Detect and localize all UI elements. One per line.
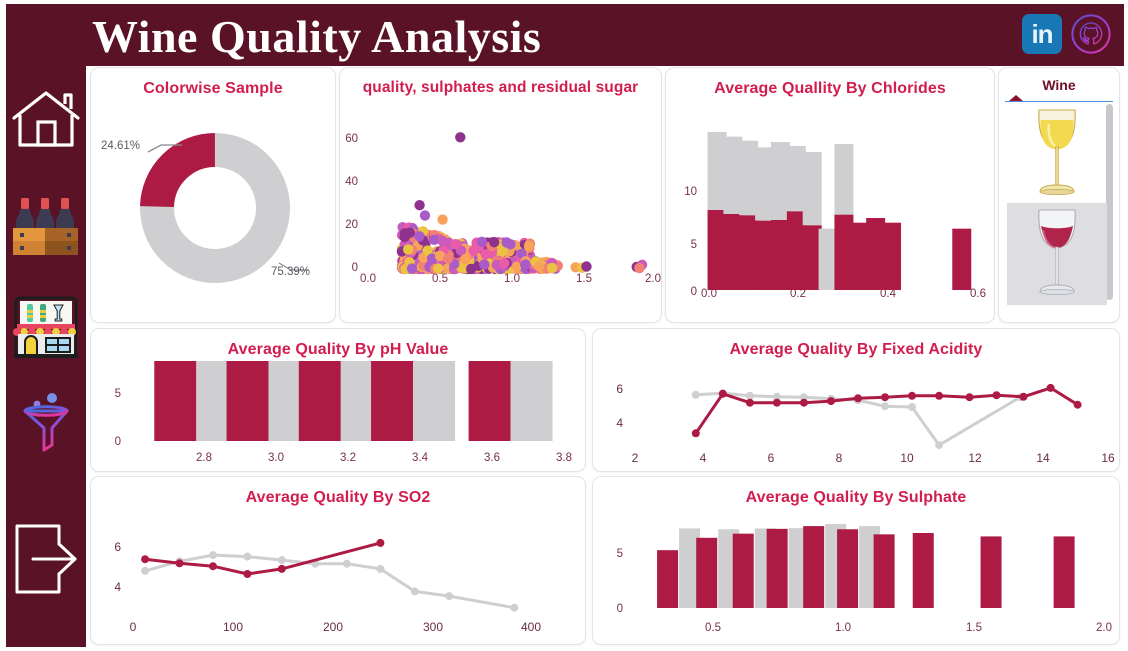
dashboard-canvas: Colorwise Sample 24.61% 75.39% quality, …	[88, 66, 1124, 647]
point-white	[445, 592, 453, 600]
point-red	[278, 564, 286, 572]
chlorides-plot: 10 5 0 0.0 0.2 0.4 0.6	[666, 100, 994, 300]
sul-ytick-5: 5	[617, 548, 623, 560]
acid-xtick-1: 4	[700, 451, 707, 465]
donut-label-red: 24.61%	[101, 140, 140, 152]
github-icon[interactable]	[1070, 13, 1112, 55]
bar-red	[371, 361, 413, 441]
bar-red	[952, 228, 971, 289]
sul-xtick-2: 1.5	[966, 622, 982, 634]
point-red	[966, 393, 974, 401]
linkedin-icon-label: in	[1031, 21, 1052, 47]
chart-title-scatter: quality, sulphates and residual sugar	[340, 68, 661, 99]
point-white	[746, 391, 754, 399]
ph-bars-group	[154, 361, 552, 441]
sidebar	[6, 66, 86, 647]
card-colorwise-sample[interactable]: Colorwise Sample 24.61% 75.39%	[90, 67, 336, 323]
bar-red	[1054, 536, 1075, 608]
bar-white	[511, 361, 553, 441]
chart-title-acidity: Average Quality By Fixed Acidity	[593, 329, 1119, 361]
scatter-xtick-0: 0.0	[360, 273, 376, 285]
point-white	[209, 551, 217, 559]
bar-white	[803, 152, 822, 225]
sidebar-item-wine-crate[interactable]	[9, 188, 83, 264]
sulphate-plot: 5 0 0.5 1.0 1.5 2.0	[593, 509, 1119, 641]
scatter-points-group	[397, 132, 648, 274]
point-white	[343, 559, 351, 567]
ph-xtick-3: 3.4	[412, 452, 429, 464]
dashboard-root: Wine Quality Analysis in	[0, 0, 1128, 651]
sidebar-item-home[interactable]	[9, 76, 83, 162]
scatter-xtick-2: 1.0	[504, 273, 520, 285]
ph-plot: 5 0 2.8 3.0 3.2 3.4 3.6 3.8	[91, 361, 585, 471]
point-white	[692, 390, 700, 398]
bar-red	[733, 533, 754, 607]
point-red	[692, 429, 700, 437]
acid-xtick-0: 2	[632, 451, 639, 465]
ph-xtick-5: 3.8	[556, 452, 572, 464]
point-white	[881, 402, 889, 410]
point-red	[719, 389, 727, 397]
white-wine-glass-icon	[1039, 110, 1075, 195]
bar-white	[413, 361, 455, 441]
so2-xtick-1: 100	[223, 620, 243, 634]
chlor-ytick-10: 10	[684, 186, 697, 198]
bar-red	[803, 526, 824, 608]
sul-ytick-0: 0	[617, 603, 623, 615]
so2-plot: 6 4 0 100 200 300 400	[91, 509, 585, 641]
acid-xtick-6: 14	[1036, 451, 1050, 465]
chlor-ytick-5: 5	[691, 239, 697, 251]
point-red	[376, 538, 384, 546]
donut-plot: 24.61% 75.39%	[91, 100, 335, 312]
chart-title-so2: Average Quality By SO2	[91, 477, 585, 509]
chart-title-donut: Colorwise Sample	[91, 68, 335, 100]
card-average-quality-by-so2[interactable]: Average Quality By SO2 6 4 0 100 200 300…	[90, 476, 586, 645]
ph-ytick-5: 5	[115, 388, 121, 400]
ph-xtick-1: 3.0	[268, 452, 284, 464]
slicer-options	[1003, 102, 1115, 305]
bar-red	[154, 361, 196, 441]
bar-red	[874, 534, 895, 608]
point-red	[209, 562, 217, 570]
bar-white	[834, 144, 853, 215]
page-title: Wine Quality Analysis	[92, 10, 541, 63]
chlor-ytick-0: 0	[691, 286, 697, 298]
sul-xtick-0: 0.5	[705, 622, 721, 634]
chlorides-bars-group	[708, 132, 972, 290]
acid-xtick-5: 12	[968, 451, 982, 465]
point-red	[854, 394, 862, 402]
expand-caret-icon[interactable]	[1009, 95, 1023, 101]
chart-title-chlorides: Average Quallity By Chlorides	[666, 68, 994, 100]
funnel-filter-icon	[15, 387, 77, 453]
card-average-quality-by-fixed-acidity[interactable]: Average Quality By Fixed Acidity 6 4 2 4…	[592, 328, 1120, 472]
point-red	[1047, 383, 1055, 391]
point-white	[141, 566, 149, 574]
logout-icon	[11, 522, 81, 596]
point-red	[141, 555, 149, 563]
acid-ytick-6: 6	[616, 382, 623, 396]
bar-red	[299, 361, 341, 441]
card-average-quality-by-sulphate[interactable]: Average Quality By Sulphate 5 0 0.5 1.0 …	[592, 476, 1120, 645]
ph-xtick-4: 3.6	[484, 452, 500, 464]
acid-xtick-4: 10	[900, 451, 914, 465]
bar-red	[882, 222, 901, 289]
ph-ytick-0: 0	[115, 436, 121, 448]
point-red	[935, 391, 943, 399]
slicer-title: Wine	[999, 68, 1119, 95]
point-white	[935, 441, 943, 449]
red-wine-glass-icon	[1039, 210, 1075, 295]
bar-red	[837, 529, 858, 608]
app-header: Wine Quality Analysis in	[6, 4, 1124, 66]
card-wine-slicer[interactable]: Wine	[998, 67, 1120, 323]
point-red	[243, 570, 251, 578]
so2-xtick-4: 400	[521, 620, 541, 634]
ph-xtick-0: 2.8	[196, 452, 212, 464]
point-white	[411, 587, 419, 595]
chlor-xtick-3: 0.6	[970, 288, 986, 300]
card-average-quality-by-ph[interactable]: Average Quality By pH Value 5 0 2.8 3.0 …	[90, 328, 586, 472]
sidebar-item-logout[interactable]	[9, 516, 83, 602]
sulphate-bars-group	[657, 524, 1075, 608]
donut-label-white: 75.39%	[271, 266, 310, 278]
point-white	[376, 564, 384, 572]
acidity-lines-group	[692, 383, 1082, 448]
point-red	[993, 391, 1001, 399]
point-red	[908, 391, 916, 399]
chart-title-ph: Average Quality By pH Value	[91, 329, 585, 361]
acid-xtick-7: 16	[1101, 451, 1115, 465]
card-average-quality-by-chlorides[interactable]: Average Quallity By Chlorides 10 5 0 0.0…	[665, 67, 995, 323]
bar-red	[913, 533, 934, 608]
sul-xtick-1: 1.0	[835, 622, 851, 634]
slicer-scrollbar[interactable]	[1106, 104, 1113, 300]
point-white	[278, 556, 286, 564]
home-icon	[10, 88, 82, 150]
scatter-plot: 60 40 20 0 0.0 0.5 1.0 1.5 2.0	[340, 99, 661, 285]
scatter-ytick-20: 20	[345, 219, 358, 231]
bar-red	[657, 550, 678, 608]
scatter-ytick-0: 0	[352, 262, 358, 274]
acid-xtick-2: 6	[768, 451, 775, 465]
bar-red	[227, 361, 269, 441]
ph-xtick-2: 3.2	[340, 452, 356, 464]
point-red	[827, 397, 835, 405]
bar-red	[696, 537, 717, 607]
sidebar-item-filter[interactable]	[9, 382, 83, 458]
header-social-links: in	[1022, 13, 1112, 55]
wine-crate-icon	[11, 194, 81, 258]
sul-xtick-3: 2.0	[1096, 622, 1112, 634]
scatter-xtick-4: 2.0	[645, 273, 661, 285]
point-white	[243, 552, 251, 560]
bar-red	[469, 361, 511, 441]
acidity-plot: 6 4 2 4 6 8 10 12 14 16	[593, 361, 1119, 471]
point-red	[800, 398, 808, 406]
point-red	[1020, 392, 1028, 400]
point-white	[510, 603, 518, 611]
scatter-ytick-60: 60	[345, 133, 358, 145]
so2-lines-group	[141, 538, 518, 611]
point-red	[881, 393, 889, 401]
so2-xtick-0: 0	[130, 620, 137, 634]
linkedin-icon[interactable]: in	[1022, 14, 1062, 54]
point-red	[1074, 400, 1082, 408]
so2-xtick-2: 200	[323, 620, 343, 634]
sidebar-item-wine-shop[interactable]	[9, 290, 83, 366]
so2-ytick-6: 6	[114, 540, 121, 554]
wine-shop-icon	[12, 295, 80, 361]
so2-xtick-3: 300	[423, 620, 443, 634]
scatter-xtick-3: 1.5	[576, 273, 592, 285]
scatter-xtick-1: 0.5	[432, 273, 448, 285]
line-white	[145, 555, 514, 608]
acid-xtick-3: 8	[836, 451, 843, 465]
scatter-ytick-40: 40	[345, 176, 358, 188]
chart-title-sulphate: Average Quality By Sulphate	[593, 477, 1119, 509]
point-white	[908, 403, 916, 411]
point-red	[176, 559, 184, 567]
wine-glass-images	[1007, 102, 1107, 305]
point-red	[773, 398, 781, 406]
bar-red	[767, 528, 788, 607]
so2-ytick-4: 4	[114, 580, 121, 594]
acid-ytick-4: 4	[616, 416, 623, 430]
bar-red	[981, 536, 1002, 608]
point-red	[746, 398, 754, 406]
card-quality-sulphates-sugar[interactable]: quality, sulphates and residual sugar 60…	[339, 67, 662, 323]
